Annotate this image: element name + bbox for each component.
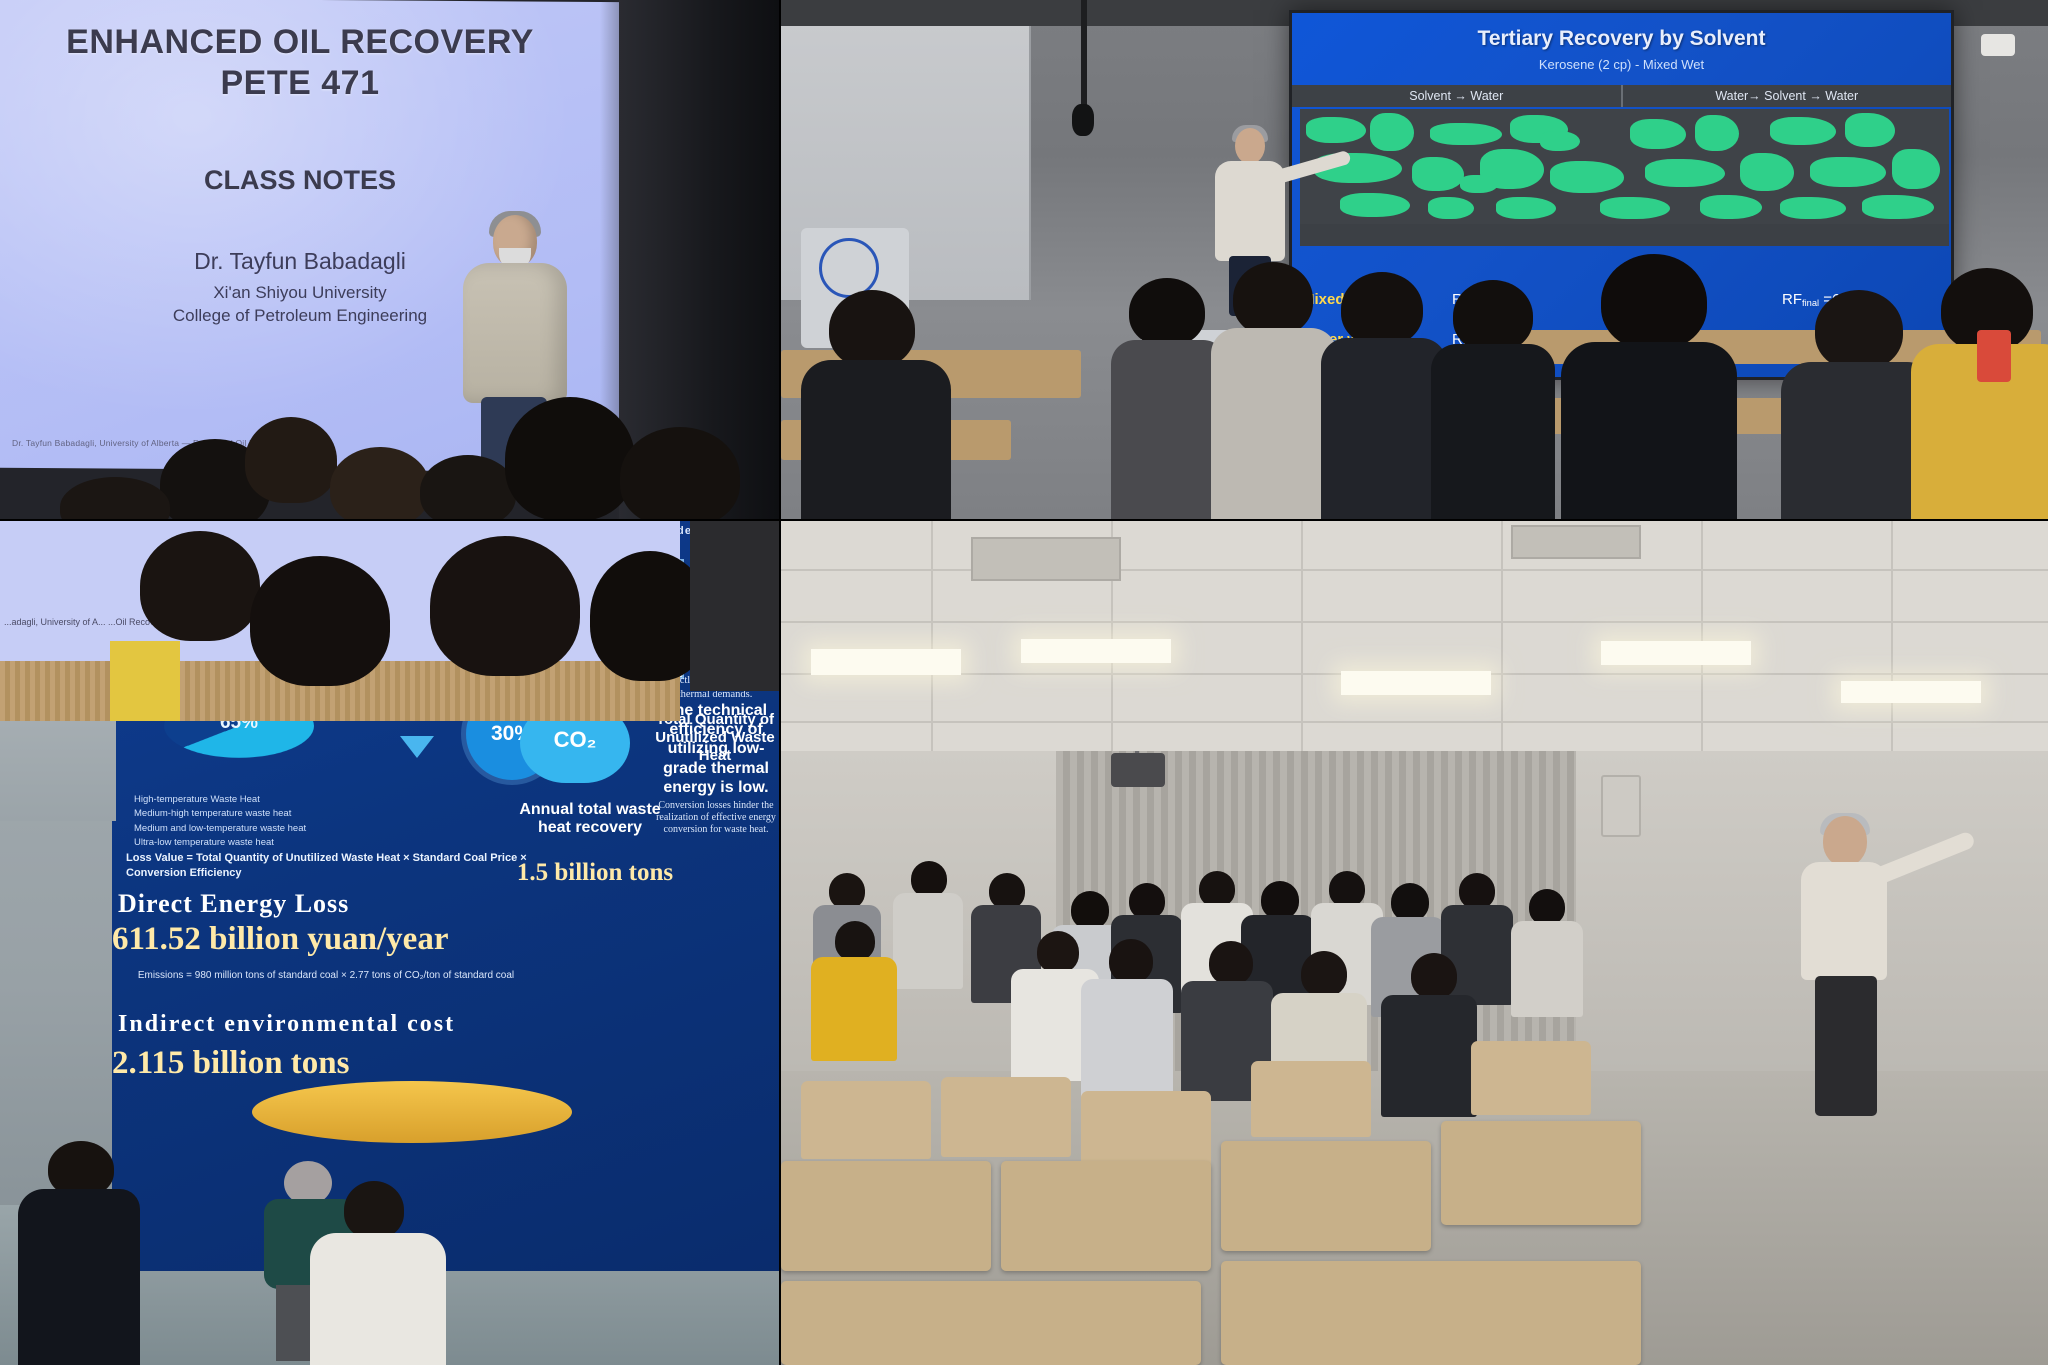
- audience-head: [60, 477, 170, 519]
- head: [989, 873, 1025, 909]
- student-hoodie: [1211, 328, 1337, 519]
- seat-back: [941, 1077, 1071, 1157]
- seat-row: [1441, 1121, 1641, 1225]
- head: [1329, 871, 1365, 907]
- legend-item: Medium-high temperature waste heat: [134, 807, 306, 821]
- audience-head: [140, 531, 260, 641]
- slide-subtitle: CLASS NOTES: [0, 165, 600, 196]
- head: [1459, 873, 1495, 909]
- torso: [1511, 921, 1583, 1017]
- student-figure: [1211, 262, 1331, 519]
- slide-title-line2: PETE 471: [0, 63, 600, 104]
- audience-head: [430, 536, 580, 676]
- instructor-figure: [1781, 816, 1931, 1116]
- student-figure: [1561, 254, 1731, 519]
- co2-label: CO₂: [520, 727, 630, 753]
- head: [1261, 881, 1299, 919]
- seat-back: [1251, 1061, 1371, 1137]
- audience-head: [245, 417, 337, 503]
- seat-row: [1221, 1141, 1431, 1251]
- wall-speaker: [1601, 775, 1641, 837]
- student-figure: [1431, 280, 1551, 519]
- metric1-label: Direct Energy Loss: [118, 889, 538, 919]
- panel-waste-heat-slide: Pain Point 1 The Dilemma of Energy Effic…: [0, 521, 779, 1365]
- university-emblem-icon: [819, 238, 879, 298]
- metric2-value: 2.115 billion tons: [112, 1045, 542, 1082]
- coffee-cup: [1977, 330, 2011, 382]
- student-head: [829, 290, 915, 368]
- metric2-label: Indirect environmental cost: [118, 1011, 548, 1038]
- student-head: [1129, 278, 1205, 346]
- porous-media-image: [1300, 109, 1949, 224]
- background-prior-slide: ...adagli, University of A... ...Oil Rec…: [0, 521, 779, 721]
- mid-metric-label: Annual total waste heat recovery: [510, 801, 670, 838]
- seat-back: [1471, 1041, 1591, 1115]
- audience-head: [505, 397, 635, 519]
- instructor-trousers: [1815, 976, 1877, 1116]
- photo-collage: ENHANCED OIL RECOVERY PETE 471 CLASS NOT…: [0, 0, 2048, 1365]
- metric1-note: Emissions = 980 million tons of standard…: [126, 969, 526, 983]
- down-arrow-icon: [400, 736, 434, 758]
- loss-value-formula: Loss Value = Total Quantity of Unutilize…: [126, 851, 546, 882]
- torso: [1381, 995, 1477, 1117]
- pie-legend: High-temperature Waste Heat Medium-high …: [134, 793, 306, 850]
- audience-figure: [690, 521, 779, 691]
- student-head: [1601, 254, 1707, 350]
- student-figure: [1911, 268, 2048, 519]
- torso: [811, 957, 897, 1061]
- head: [829, 873, 865, 909]
- student-figure: [1781, 290, 1931, 519]
- torso: [1081, 979, 1173, 1099]
- student-jacket: [1111, 340, 1227, 519]
- seat-row: [1221, 1261, 1641, 1365]
- ceiling-projector: [1111, 753, 1165, 787]
- audience-heads: [0, 369, 779, 519]
- column-label-water-solvent-water: Water→ Solvent → Water: [1621, 85, 1952, 107]
- seat-row: [781, 1281, 1201, 1365]
- seat-row: [781, 1161, 991, 1271]
- instructor-head: [1823, 816, 1867, 866]
- seat-back: [1081, 1091, 1211, 1171]
- hanging-microphone-icon: [1072, 104, 1094, 136]
- legend-item: Ultra-low temperature waste heat: [134, 836, 306, 850]
- viewer-head: [344, 1181, 404, 1239]
- torso: [893, 893, 963, 989]
- head: [1301, 951, 1347, 997]
- slide-title: ENHANCED OIL RECOVERY PETE 471: [0, 22, 600, 105]
- head: [1209, 941, 1253, 985]
- head: [1199, 871, 1235, 907]
- yellow-jacket: [110, 641, 180, 721]
- student-jacket: [1321, 338, 1447, 519]
- legend-item: High-temperature Waste Heat: [134, 793, 306, 807]
- metric1-value: 611.52 billion yuan/year: [112, 921, 542, 958]
- audience-head: [330, 447, 430, 519]
- head: [1411, 953, 1457, 999]
- audience-head: [420, 455, 516, 519]
- student-head: [1453, 280, 1533, 352]
- panel-lecture-hall: [781, 521, 2048, 1365]
- slide-title-line1: ENHANCED OIL RECOVERY: [0, 22, 600, 63]
- panel-tertiary-recovery: Tertiary Recovery by Solvent Kerosene (2…: [781, 0, 2048, 519]
- ceiling-light: [811, 649, 961, 675]
- head: [1071, 891, 1109, 929]
- head: [1109, 939, 1153, 983]
- column-label-solvent-water: Solvent → Water: [1292, 85, 1621, 107]
- student-figure: [1111, 278, 1221, 518]
- student-jacket: [1431, 344, 1555, 519]
- slide-title: Tertiary Recovery by Solvent: [1292, 27, 1951, 51]
- viewer-figure-right: [300, 1181, 450, 1365]
- audience-member: [1511, 889, 1583, 1017]
- ceiling-light: [1341, 671, 1491, 695]
- head: [1129, 883, 1165, 919]
- viewer-figure-left: [18, 1141, 138, 1365]
- viewer-jacket: [18, 1189, 140, 1365]
- audience-member: [1381, 953, 1477, 1117]
- hanging-cable: [1081, 0, 1087, 120]
- head: [1529, 889, 1565, 925]
- student-head: [1233, 262, 1313, 336]
- image-lower-strip: [1300, 224, 1949, 246]
- mid-metric-value: 1.5 billion tons: [510, 859, 680, 887]
- student-head: [1815, 290, 1903, 370]
- seat-row: [1001, 1161, 1211, 1271]
- slide-subtitle: Kerosene (2 cp) - Mixed Wet: [1292, 57, 1951, 72]
- ceiling-light: [1601, 641, 1751, 665]
- audience-head: [250, 556, 390, 686]
- legend-item: Medium and low-temperature waste heat: [134, 822, 306, 836]
- audience-member: [1081, 939, 1173, 1099]
- audience-member: [811, 921, 897, 1061]
- head: [911, 861, 947, 897]
- ceiling-vent: [971, 537, 1121, 581]
- seat-back: [801, 1081, 931, 1159]
- ceiling-light: [1841, 681, 1981, 703]
- student-figure: [1321, 272, 1441, 519]
- student-jacket: [1561, 342, 1737, 519]
- experiment-column-labels: Solvent → Water Water→ Solvent → Water: [1292, 85, 1951, 107]
- student-jacket: [801, 360, 951, 519]
- head: [835, 921, 875, 961]
- student-figure: [801, 290, 941, 519]
- security-camera-icon: [1981, 34, 2015, 56]
- ceiling-vent: [1511, 525, 1641, 559]
- viewer-sweater: [310, 1233, 446, 1365]
- audience-member: [891, 861, 965, 991]
- head: [1037, 931, 1079, 973]
- student-head: [1341, 272, 1423, 346]
- stage-ellipse-graphic: [252, 1081, 572, 1143]
- audience-head: [620, 427, 740, 519]
- head: [1391, 883, 1429, 921]
- lecturer-head: [1235, 128, 1265, 164]
- panel-title-slide: ENHANCED OIL RECOVERY PETE 471 CLASS NOT…: [0, 0, 779, 519]
- ceiling-light: [1021, 639, 1171, 663]
